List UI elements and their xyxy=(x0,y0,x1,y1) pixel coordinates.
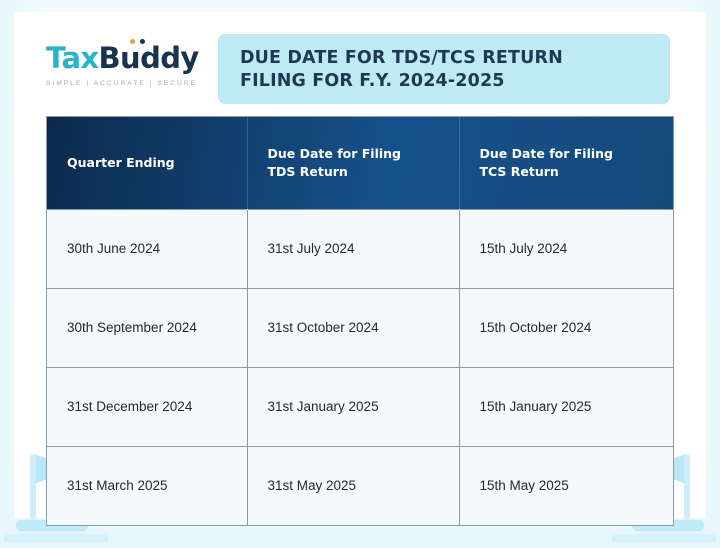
cell-quarter-ending: 30th September 2024 xyxy=(47,288,247,367)
table-header: Quarter Ending Due Date for Filing TDS R… xyxy=(47,117,673,209)
table-row: 30th June 2024 31st July 2024 15th July … xyxy=(47,209,673,288)
cell-tcs-due-date: 15th January 2025 xyxy=(459,367,673,446)
logo-tagline: SIMPLE | ACCURATE | SECURE xyxy=(46,80,206,87)
umlaut-dot-right-icon xyxy=(140,39,145,44)
logo-text-tax: Tax xyxy=(46,41,99,75)
cell-tds-due-date: 31st May 2025 xyxy=(247,446,459,525)
taxbuddy-logo[interactable]: TaxBuddy SIMPLE | ACCURATE | SECURE xyxy=(46,44,206,87)
title-banner: DUE DATE FOR TDS/TCS RETURN FILING FOR F… xyxy=(218,34,670,104)
due-dates-table: Quarter Ending Due Date for Filing TDS R… xyxy=(47,117,673,525)
cell-tcs-due-date: 15th October 2024 xyxy=(459,288,673,367)
page-title: DUE DATE FOR TDS/TCS RETURN FILING FOR F… xyxy=(240,47,670,94)
table-row: 31st December 2024 31st January 2025 15t… xyxy=(47,367,673,446)
column-header-quarter-ending: Quarter Ending xyxy=(47,117,247,209)
table-row: 31st March 2025 31st May 2025 15th May 2… xyxy=(47,446,673,525)
column-header-tds-due-date: Due Date for Filing TDS Return xyxy=(247,117,459,209)
cell-tcs-due-date: 15th May 2025 xyxy=(459,446,673,525)
infographic-canvas: TaxBuddy SIMPLE | ACCURATE | SECURE DUE … xyxy=(0,0,720,548)
due-dates-table-container: Quarter Ending Due Date for Filing TDS R… xyxy=(46,116,674,526)
cell-tds-due-date: 31st January 2025 xyxy=(247,367,459,446)
logo-wordmark: TaxBuddy xyxy=(46,44,206,73)
column-header-tcs-due-date: Due Date for Filing TCS Return xyxy=(459,117,673,209)
table-header-row: Quarter Ending Due Date for Filing TDS R… xyxy=(47,117,673,209)
logo-text-buddy-label: Buddy xyxy=(99,41,199,75)
table-row: 30th September 2024 31st October 2024 15… xyxy=(47,288,673,367)
logo-text-buddy: Buddy xyxy=(99,41,199,75)
cell-quarter-ending: 30th June 2024 xyxy=(47,209,247,288)
table-body: 30th June 2024 31st July 2024 15th July … xyxy=(47,209,673,525)
umlaut-dot-left-icon xyxy=(130,39,135,44)
cell-tds-due-date: 31st July 2024 xyxy=(247,209,459,288)
cell-tcs-due-date: 15th July 2024 xyxy=(459,209,673,288)
header: TaxBuddy SIMPLE | ACCURATE | SECURE DUE … xyxy=(0,0,720,118)
cell-tds-due-date: 31st October 2024 xyxy=(247,288,459,367)
cell-quarter-ending: 31st December 2024 xyxy=(47,367,247,446)
cell-quarter-ending: 31st March 2025 xyxy=(47,446,247,525)
